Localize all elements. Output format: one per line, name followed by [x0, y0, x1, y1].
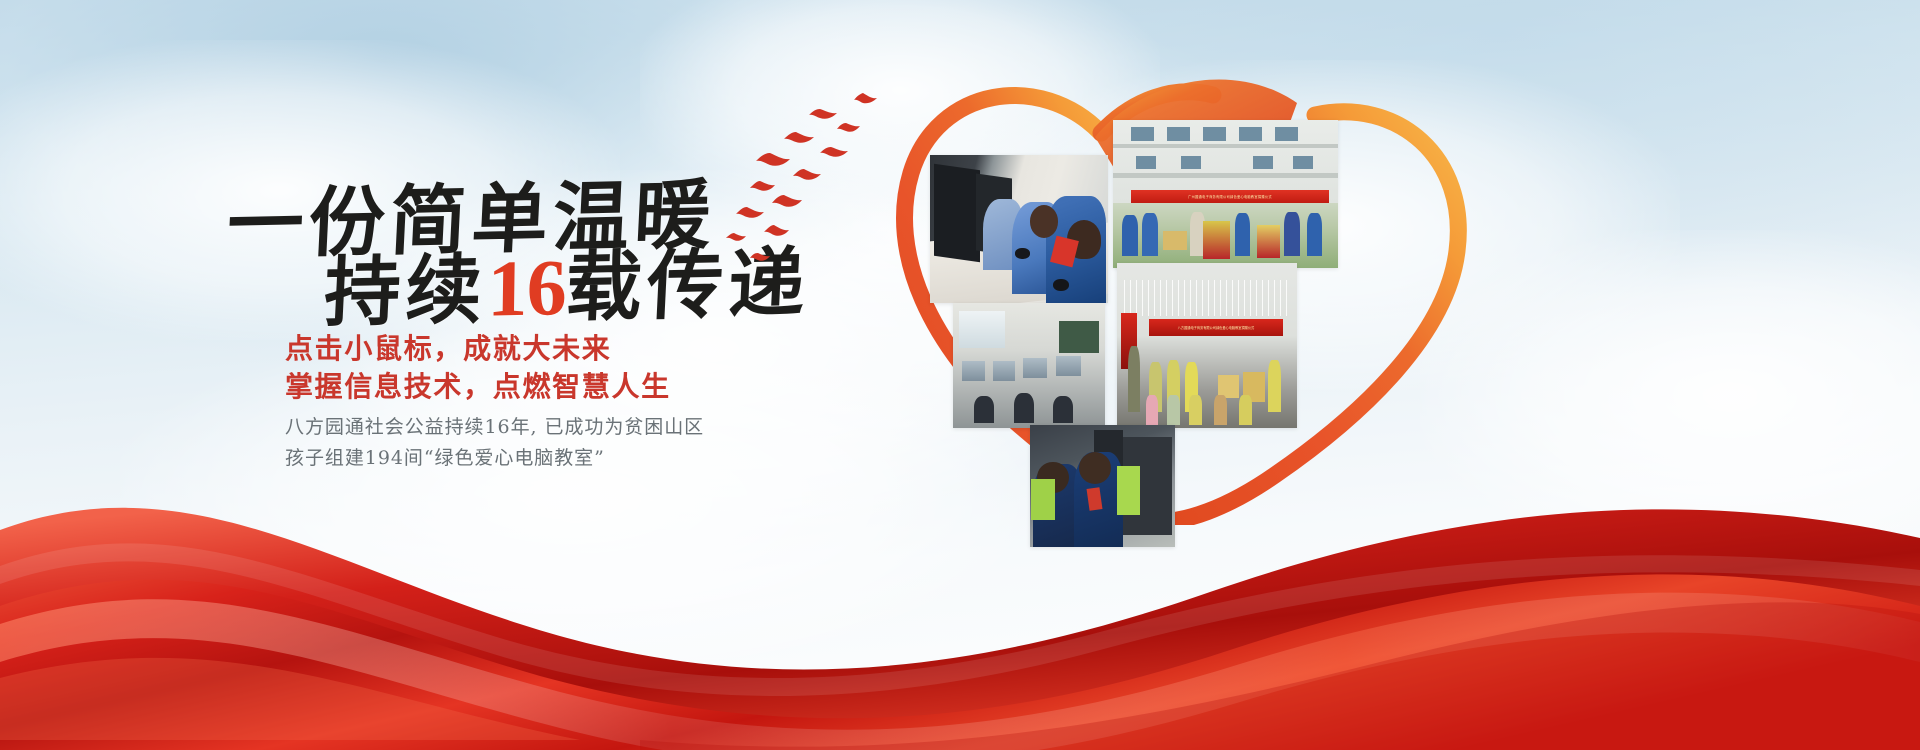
photo-students-computers: 学生在电脑教室使用鼠标上机 — [930, 155, 1108, 303]
photo-indoor-ceremony: 八方圆通电子商务有限公司绿色爱心电脑教室捐赠仪式 室内绿色爱心电脑教室捐赠仪式合… — [1117, 263, 1297, 428]
photo-banner-text: 广州圆通电子商务有限公司绿色爱心电脑教室捐赠仪式 — [1131, 190, 1329, 203]
headline-years-number: 16 — [487, 243, 567, 336]
photo-banner-text: 八方圆通电子商务有限公司绿色爱心电脑教室捐赠仪式 — [1149, 319, 1282, 336]
photo-school-donation-ceremony: 广州圆通电子商务有限公司绿色爱心电脑教室捐赠仪式 学校操场爱心电脑教室捐赠仪式合… — [1113, 120, 1338, 268]
photo-banner-strip: 八方圆通电子商务有限公司绿色爱心电脑教室捐赠仪式 — [1149, 319, 1282, 336]
red-silk-wave — [0, 410, 1920, 750]
subtitle-line-2: 掌握信息技术，点燃智慧人生 — [285, 365, 671, 405]
banner-stage: 一份简单温暖 持续16载传递 点击小鼠标，成就大未来 掌握信息技术，点燃智慧人生… — [0, 0, 1920, 750]
headline-line-2-prefix: 持续 — [322, 245, 489, 337]
photo-banner-strip: 广州圆通电子商务有限公司绿色爱心电脑教室捐赠仪式 — [1131, 190, 1329, 203]
subtitle-line-1: 点击小鼠标，成就大未来 — [285, 327, 611, 367]
